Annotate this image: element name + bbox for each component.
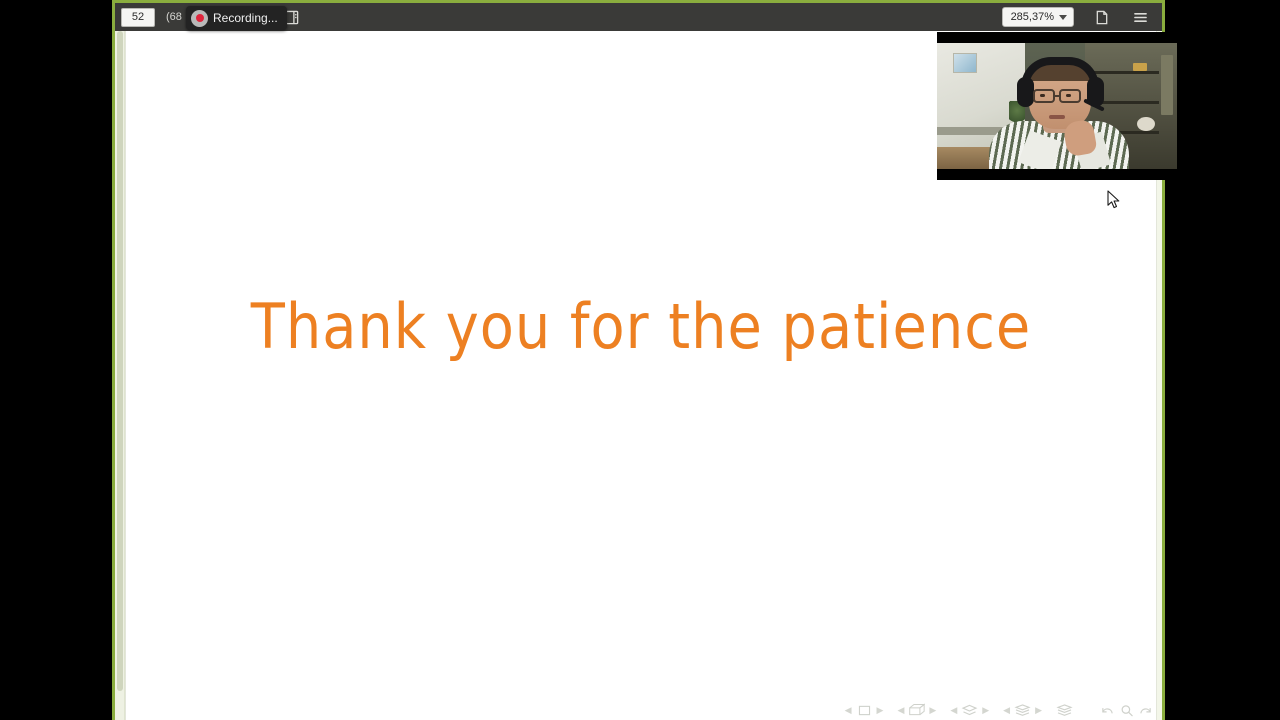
layers-light-icon[interactable] — [961, 703, 978, 717]
triangle-right-icon[interactable]: ▶ — [929, 706, 936, 715]
slide-title: Thank you for the patience — [126, 290, 1156, 363]
triangle-right-icon[interactable]: ▶ — [982, 706, 989, 715]
vertical-scrollbar[interactable] — [115, 31, 125, 720]
triangle-left-icon[interactable]: ◀ — [897, 706, 904, 715]
magnifier-icon[interactable] — [1118, 703, 1135, 717]
record-dot-icon — [191, 10, 208, 27]
chevron-down-icon — [1059, 15, 1067, 20]
webcam-overlay[interactable] — [937, 32, 1177, 180]
recording-indicator[interactable]: Recording... — [186, 6, 287, 30]
triangle-left-icon[interactable]: ◀ — [950, 706, 957, 715]
layers-icon[interactable] — [1056, 703, 1073, 717]
scrollbar-thumb[interactable] — [117, 31, 123, 691]
recording-label: Recording... — [213, 11, 278, 25]
webcam-video-frame — [937, 43, 1177, 169]
zoom-level-value: 285,37% — [1011, 11, 1054, 23]
cube-icon[interactable] — [908, 703, 925, 717]
hamburger-menu-icon[interactable] — [1128, 6, 1152, 28]
square-outline-icon[interactable] — [856, 703, 873, 717]
layers-dense-icon[interactable] — [1014, 703, 1031, 717]
slide-control-group-2: ◀ ▶ — [897, 703, 936, 717]
undo-arrow-icon[interactable] — [1099, 703, 1116, 717]
triangle-right-icon[interactable]: ▶ — [1035, 706, 1042, 715]
screen: (68 ... — [0, 0, 1280, 720]
triangle-left-icon[interactable]: ◀ — [845, 706, 852, 715]
slide-control-group-3: ◀ ▶ — [950, 703, 989, 717]
zoom-level-select[interactable]: 285,37% — [1002, 7, 1074, 27]
page-number-input[interactable] — [121, 8, 155, 27]
letterbox-right — [1165, 0, 1280, 720]
slide-control-group-4: ◀ ▶ — [1003, 703, 1042, 717]
slide-control-group-1: ◀ ▶ — [845, 703, 884, 717]
slide-control-group-5 — [1056, 703, 1073, 717]
slide-navigation-bar: ◀ ▶ ◀ — [115, 700, 1162, 720]
triangle-right-icon[interactable]: ▶ — [877, 706, 884, 715]
redo-arrow-icon[interactable] — [1137, 703, 1154, 717]
triangle-left-icon[interactable]: ◀ — [1003, 706, 1010, 715]
slide-history-group — [1099, 703, 1154, 717]
letterbox-left — [0, 0, 112, 720]
page-view-icon[interactable] — [1090, 6, 1114, 28]
toolbar-right-group: 285,37% — [1002, 6, 1156, 28]
